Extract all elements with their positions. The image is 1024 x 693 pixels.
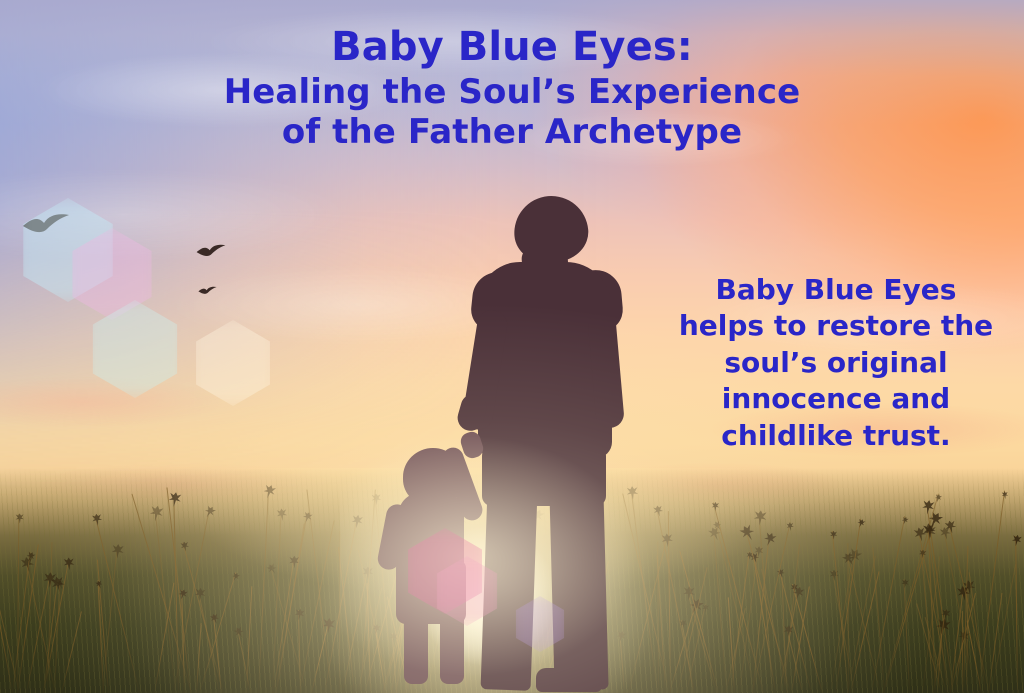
title-line-2: Healing the Soul’s Experience (0, 74, 1024, 110)
bird-large-icon (22, 212, 70, 238)
poster-title: Baby Blue Eyes: Healing the Soul’s Exper… (0, 26, 1024, 150)
title-line-3: of the Father Archetype (0, 114, 1024, 150)
blurb-line-2: helps to restore the (660, 308, 1012, 344)
poster-image: Baby Blue Eyes: Healing the Soul’s Exper… (0, 0, 1024, 693)
blurb-line-4: innocence and (660, 381, 1012, 417)
backlight-haze (340, 430, 700, 693)
blurb-line-5: childlike trust. (660, 418, 1012, 454)
title-line-1: Baby Blue Eyes: (0, 26, 1024, 68)
poster-blurb: Baby Blue Eyes helps to restore the soul… (660, 272, 1012, 454)
bird-small-icon (198, 285, 217, 297)
blurb-line-3: soul’s original (660, 345, 1012, 381)
blurb-line-1: Baby Blue Eyes (660, 272, 1012, 308)
bird-medium-icon (196, 243, 226, 260)
